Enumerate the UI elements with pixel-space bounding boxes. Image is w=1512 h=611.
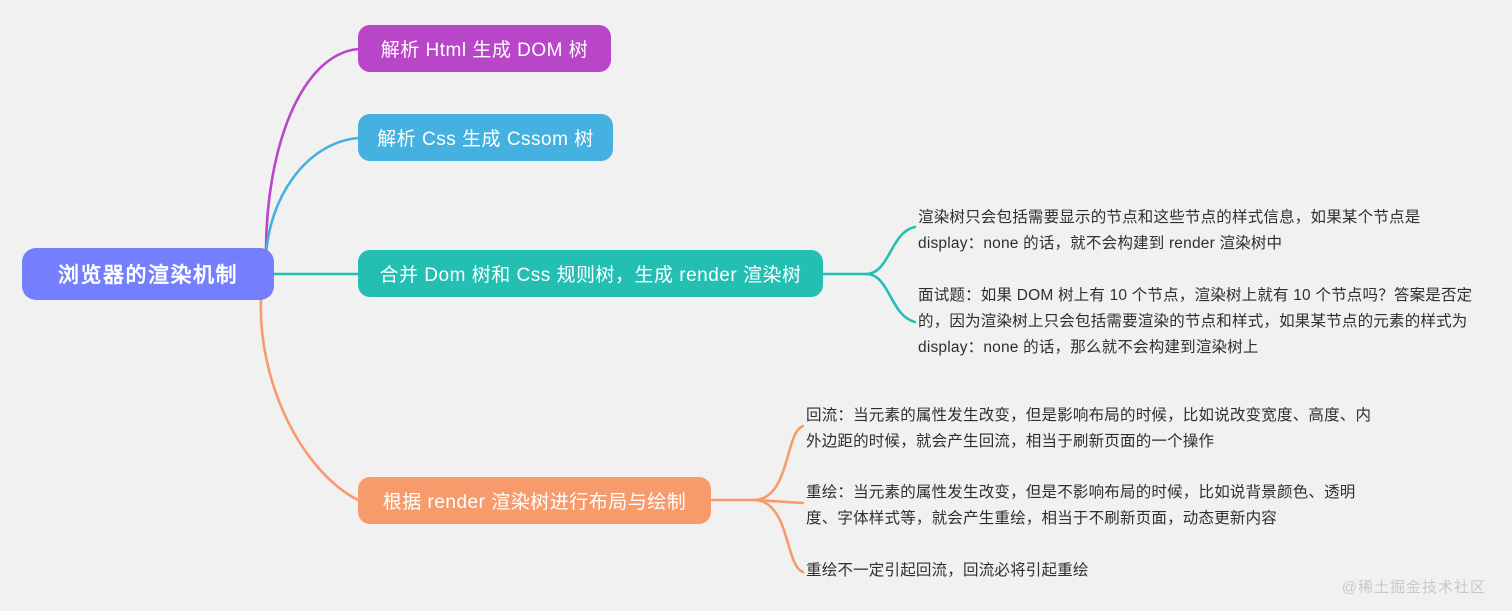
connector-root-to-cssom — [266, 138, 358, 258]
leaf-paint-note-repaint: 重绘：当元素的属性发生改变，但是不影响布局的时候，比如说背景颜色、透明度、字体样… — [806, 480, 1376, 532]
connector-render-to-note-2 — [866, 274, 915, 322]
node-render-tree[interactable]: 合并 Dom 树和 Css 规则树，生成 render 渲染树 — [358, 250, 823, 297]
node-parse-html-dom-label: 解析 Html 生成 DOM 树 — [381, 35, 589, 62]
node-render-tree-label: 合并 Dom 树和 Css 规则树，生成 render 渲染树 — [380, 260, 802, 287]
node-root-label: 浏览器的渲染机制 — [58, 259, 238, 289]
connector-root-to-paint — [261, 300, 358, 500]
connector-paint-to-note-1 — [755, 426, 803, 500]
connector-root-to-dom — [266, 49, 358, 252]
node-parse-css-cssom[interactable]: 解析 Css 生成 Cssom 树 — [358, 114, 613, 161]
node-layout-paint-label: 根据 render 渲染树进行布局与绘制 — [383, 487, 686, 514]
connector-paint-to-note-3 — [755, 500, 803, 572]
leaf-render-note-1: 渲染树只会包括需要显示的节点和这些节点的样式信息，如果某个节点是 display… — [918, 205, 1478, 257]
watermark: @稀土掘金技术社区 — [1342, 576, 1486, 597]
connector-render-to-note-1 — [866, 227, 915, 274]
node-layout-paint[interactable]: 根据 render 渲染树进行布局与绘制 — [358, 477, 711, 524]
leaf-paint-note-reflow: 回流：当元素的属性发生改变，但是影响布局的时候，比如说改变宽度、高度、内外边距的… — [806, 403, 1376, 455]
node-root[interactable]: 浏览器的渲染机制 — [22, 248, 274, 300]
connector-paint-to-note-2 — [755, 500, 803, 503]
node-parse-html-dom[interactable]: 解析 Html 生成 DOM 树 — [358, 25, 611, 72]
mindmap-canvas: 浏览器的渲染机制 解析 Html 生成 DOM 树 解析 Css 生成 Csso… — [0, 0, 1512, 611]
leaf-render-note-2: 面试题：如果 DOM 树上有 10 个节点，渲染树上就有 10 个节点吗？答案是… — [918, 283, 1478, 361]
leaf-paint-note-relation: 重绘不一定引起回流，回流必将引起重绘 — [806, 558, 1376, 584]
node-parse-css-cssom-label: 解析 Css 生成 Cssom 树 — [377, 124, 593, 151]
